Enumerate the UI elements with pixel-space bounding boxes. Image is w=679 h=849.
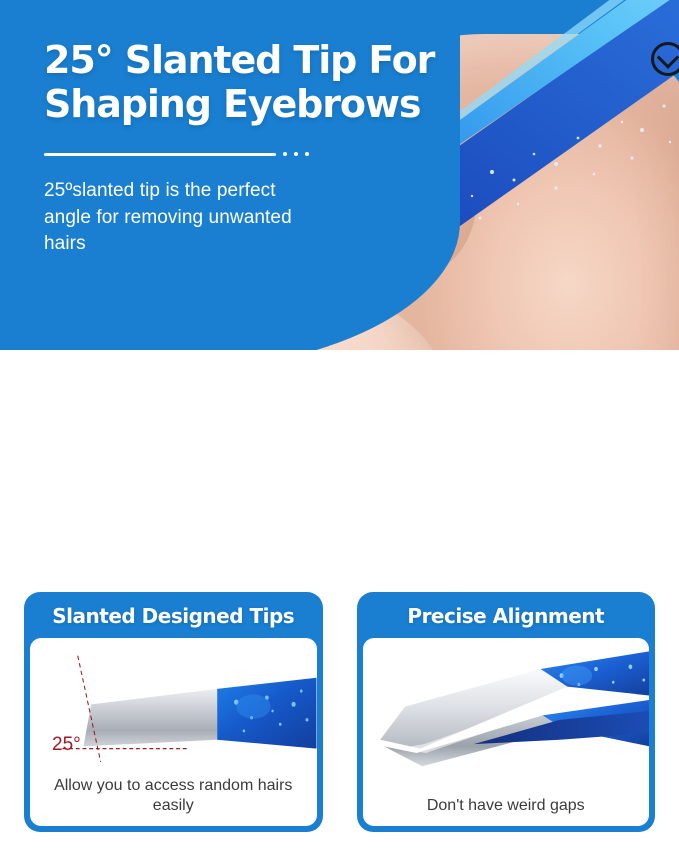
- card-title: Precise Alignment: [363, 598, 650, 638]
- divider-line: [44, 153, 276, 156]
- divider-dot-1: [283, 152, 287, 156]
- feature-cards: Slanted Designed Tips: [0, 592, 679, 832]
- divider-dot-3: [305, 152, 309, 156]
- hero-section: 25° Slanted Tip For Shaping Eyebrows 25º…: [0, 0, 679, 350]
- feature-card-precise-alignment: Precise Alignment: [357, 592, 656, 832]
- divider-dot-2: [294, 152, 298, 156]
- card-caption: Allow you to access random hairs easily: [30, 776, 317, 816]
- hero-subtitle: 25ºslanted tip is the perfect angle for …: [44, 178, 294, 258]
- card-caption: Don't have weird gaps: [363, 796, 650, 816]
- page-title: 25° Slanted Tip For Shaping Eyebrows: [44, 38, 474, 126]
- angle-label: 25°: [52, 734, 81, 756]
- card-body: 25° Allow you to access random hairs eas…: [30, 638, 317, 826]
- card-title: Slanted Designed Tips: [30, 598, 317, 638]
- card-body: Don't have weird gaps: [363, 638, 650, 826]
- title-divider: [44, 152, 309, 156]
- brand-circle-check-icon: [651, 42, 679, 76]
- hero-copy-block: 25° Slanted Tip For Shaping Eyebrows 25º…: [44, 38, 474, 258]
- product-infographic-page: 25° Slanted Tip For Shaping Eyebrows 25º…: [0, 0, 679, 849]
- feature-card-slanted-tips: Slanted Designed Tips: [24, 592, 323, 832]
